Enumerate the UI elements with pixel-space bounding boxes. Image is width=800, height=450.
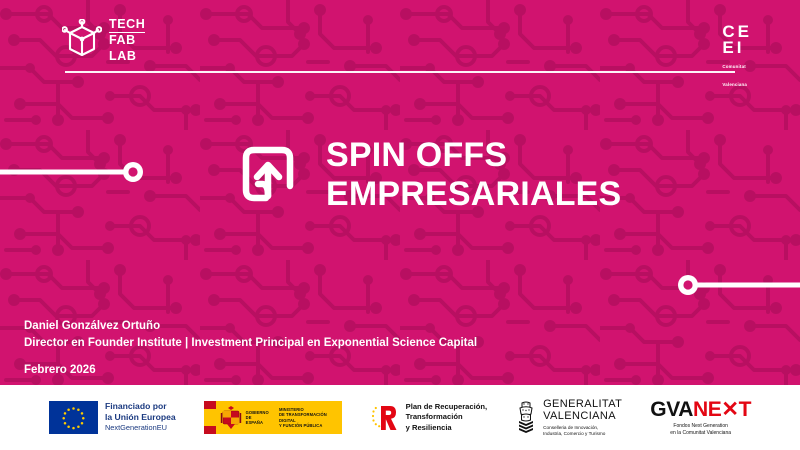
title-line-1: SPIN OFFS [326, 136, 621, 175]
eu-line-1: Financiado por [105, 401, 176, 411]
generalitat-text: GENERALITAT VALENCIANA Conselleria de In… [543, 398, 622, 438]
prtr-line-2: Transformación [406, 412, 487, 422]
eu-line-3: NextGenerationEU [105, 422, 176, 433]
eu-funding-logo: Financiado por la Unión Europea NextGene… [49, 401, 176, 434]
conselleria-line-2: Industria, Comercio y Turismo [543, 431, 622, 437]
prtr-line-3: y Resiliencia [406, 423, 487, 433]
gvanext-word-gva: GVA [650, 398, 693, 421]
presentation-date: Febrero 2026 [24, 364, 477, 376]
generalitat-line-2: VALENCIANA [543, 410, 622, 422]
ceei-subtitle: Comunitat Valenciana [722, 64, 747, 87]
gobierno-espana-panel: GOBIERNO DE ESPAÑA MINISTERIO DE TRANSFO… [216, 401, 342, 434]
presentation-slide: TECH FAB LAB CE EI Comunitat Valenciana … [0, 0, 800, 450]
brand-line-fab: FAB [109, 32, 145, 48]
gvanext-x-icon: ✕ [721, 398, 738, 421]
slide-title-block: SPIN OFFS EMPRESARIALES [232, 136, 621, 215]
plan-recuperacion-logo: Plan de Recuperación, Transformación y R… [370, 402, 487, 433]
prtr-line-1: Plan de Recuperación, [406, 402, 487, 412]
eu-line-2: la Unión Europea [105, 412, 176, 422]
brand-line-tech: TECH [109, 18, 145, 32]
ceei-subtitle-line2: Valenciana [722, 82, 747, 87]
gobierno-line-2: DE ESPAÑA [246, 415, 269, 426]
speaker-role: Director en Founder Institute | Investme… [24, 335, 477, 352]
ceei-line-ei: EI [722, 40, 752, 56]
techfablab-wordmark: TECH FAB LAB [109, 18, 145, 63]
gobierno-espana-logo: GOBIERNO DE ESPAÑA MINISTERIO DE TRANSFO… [204, 401, 342, 434]
plan-recuperacion-text: Plan de Recuperación, Transformación y R… [406, 402, 487, 433]
speaker-name: Daniel Gonzálvez Ortuño [24, 318, 477, 335]
gvanext-sub-line-1: Fondos Next Generation [650, 423, 751, 430]
gvanext-word-t: T [739, 398, 751, 421]
ceei-wordmark: CE EI [722, 24, 752, 55]
techfablab-logo: TECH FAB LAB [62, 18, 145, 63]
ministerio-line-3: Y FUNCIÓN PÚBLICA [279, 423, 342, 428]
generalitat-valenciana-logo: GENERALITAT VALENCIANA Conselleria de In… [515, 398, 622, 438]
circuit-trace-right [676, 274, 800, 296]
eu-funding-text: Financiado por la Unión Europea NextGene… [105, 401, 176, 433]
gva-next-logo: GVANE✕T Fondos Next Generation en la Com… [650, 399, 751, 437]
gva-next-wordmark: GVANE✕T [650, 399, 751, 420]
gvanext-word-ne: NE [693, 398, 721, 421]
gvanext-sub-line-2: en la Comunitat Valenciana [650, 430, 751, 437]
footer-logo-band: Financiado por la Unión Europea NextGene… [0, 385, 800, 450]
ceei-subtitle-line1: Comunitat [722, 64, 746, 69]
eu-flag-icon [49, 401, 98, 434]
prtr-r-icon [370, 403, 400, 433]
generalitat-crest-icon [515, 401, 537, 435]
page-title: SPIN OFFS EMPRESARIALES [326, 136, 621, 215]
spain-flag-icon [204, 401, 216, 434]
gobierno-espana-text: GOBIERNO DE ESPAÑA [246, 410, 269, 426]
spinoff-arrow-icon [232, 140, 304, 212]
speaker-block: Daniel Gonzálvez Ortuño Director en Foun… [24, 318, 477, 376]
cube-circuit-icon [62, 19, 102, 61]
ministerio-line-2: DE TRANSFORMACIÓN DIGITAL [279, 412, 342, 423]
spain-coat-of-arms-icon [220, 405, 242, 431]
brand-line-lab: LAB [109, 49, 145, 63]
circuit-trace-left [0, 161, 146, 183]
ministerio-text: MINISTERIO DE TRANSFORMACIÓN DIGITAL Y F… [279, 407, 342, 428]
ceei-logo: CE EI Comunitat Valenciana [722, 24, 752, 91]
gva-next-subtitle: Fondos Next Generation en la Comunitat V… [650, 423, 751, 437]
header-divider [65, 71, 735, 73]
title-line-2: EMPRESARIALES [326, 175, 621, 214]
generalitat-line-1: GENERALITAT [543, 398, 622, 410]
